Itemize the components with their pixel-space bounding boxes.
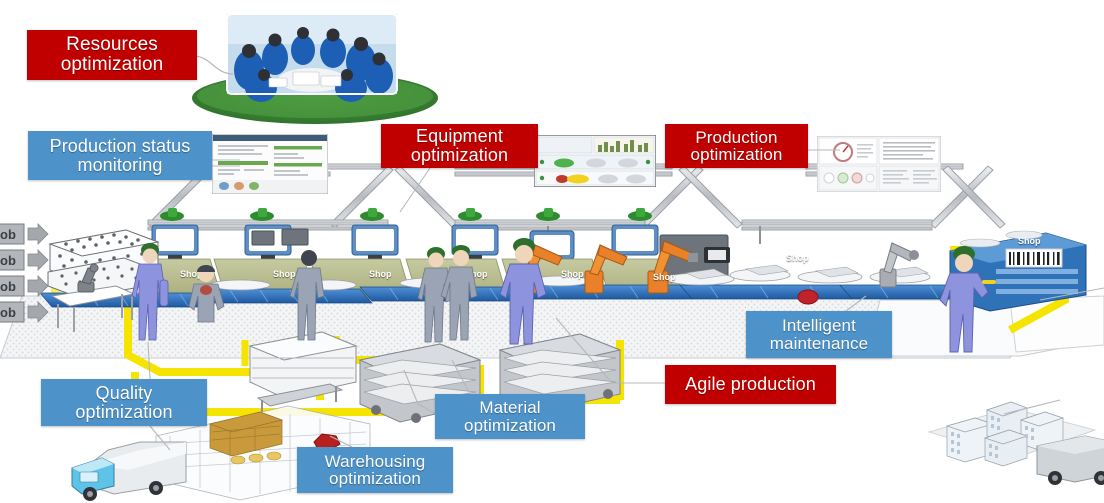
callout-material-optimization[interactable]: Material optimization	[435, 394, 585, 439]
label-line1: Resources	[61, 35, 164, 55]
label-line1: Quality	[75, 384, 172, 403]
label-line2: optimization	[691, 146, 783, 164]
label-line2: optimization	[464, 417, 556, 435]
label-line2: optimization	[325, 470, 426, 488]
label-line1: Production status	[50, 137, 191, 156]
label-line2: monitoring	[50, 156, 191, 175]
label-line2: optimization	[61, 55, 164, 75]
label-line1: Agile production	[685, 375, 816, 394]
label-line1: Material	[464, 399, 556, 417]
callout-production-status-monitoring[interactable]: Production status monitoring	[28, 131, 212, 180]
label-line1: Intelligent	[770, 317, 868, 335]
callout-agile-production[interactable]: Agile production	[665, 365, 836, 404]
label-line1: Equipment	[411, 127, 508, 146]
smart-factory-diagram: Shop Shop Shop Shop Shop Shop Shop Shop …	[0, 0, 1104, 503]
label-line1: Production	[691, 129, 783, 147]
callout-production-optimization[interactable]: Production optimization	[665, 124, 808, 168]
callout-resources-optimization[interactable]: Resources optimization	[27, 30, 197, 80]
callout-warehousing-optimization[interactable]: Warehousing optimization	[297, 447, 453, 493]
label-line2: maintenance	[770, 335, 868, 353]
label-line2: optimization	[411, 146, 508, 165]
callout-equipment-optimization[interactable]: Equipment optimization	[381, 124, 538, 168]
callout-quality-optimization[interactable]: Quality optimization	[41, 379, 207, 426]
label-line2: optimization	[75, 403, 172, 422]
callout-intelligent-maintenance[interactable]: Intelligent maintenance	[746, 311, 892, 358]
label-line1: Warehousing	[325, 453, 426, 471]
